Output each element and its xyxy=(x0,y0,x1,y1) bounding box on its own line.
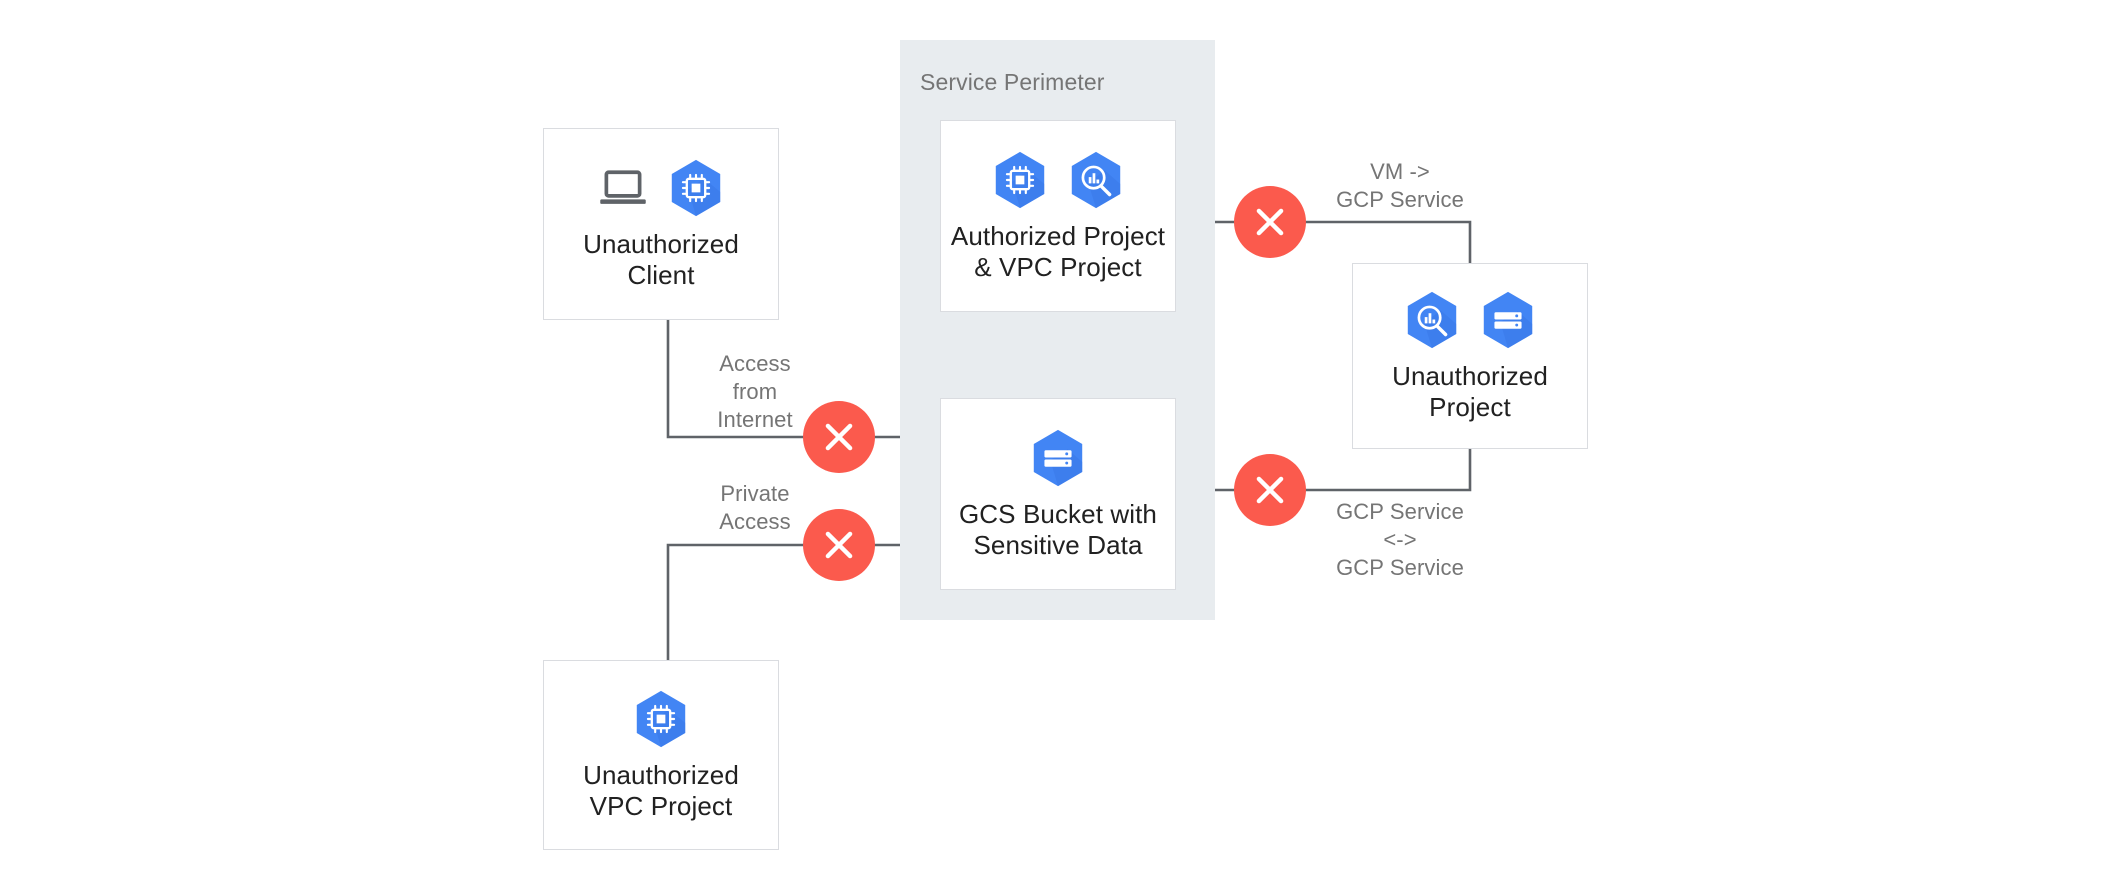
x-blocked-icon xyxy=(820,526,858,564)
node-label: Unauthorized Client xyxy=(583,229,739,290)
connector-label-gcp-service-to-gcp-service: GCP Service <-> GCP Service xyxy=(1300,498,1500,582)
connector-gcp-service-to-gcp-service xyxy=(1184,448,1470,490)
compute-engine-hexagon-icon xyxy=(630,688,692,750)
node-label: Unauthorized VPC Project xyxy=(583,760,739,821)
laptop-icon xyxy=(595,160,651,216)
bigquery-hexagon-icon xyxy=(1401,289,1463,351)
node-icon-group xyxy=(1401,289,1539,351)
connector-label-vm-to-gcp-service: VM -> GCP Service xyxy=(1300,158,1500,214)
cloud-storage-hexagon-icon xyxy=(1477,289,1539,351)
blocker-access-from-internet[interactable] xyxy=(803,401,875,473)
diagram-canvas: Service Perimeter xyxy=(0,0,2112,882)
compute-engine-hexagon-icon xyxy=(665,157,727,219)
node-icon-group xyxy=(989,149,1127,211)
node-icon-group xyxy=(1027,427,1089,489)
node-unauthorized-client[interactable]: Unauthorized Client xyxy=(543,128,779,320)
x-blocked-icon xyxy=(820,418,858,456)
node-label: Unauthorized Project xyxy=(1392,361,1548,422)
compute-engine-hexagon-icon xyxy=(989,149,1051,211)
node-unauthorized-vpc-project[interactable]: Unauthorized VPC Project xyxy=(543,660,779,850)
blocker-gcp-service-to-gcp-service[interactable] xyxy=(1234,454,1306,526)
node-gcs-bucket-sensitive-data[interactable]: GCS Bucket with Sensitive Data xyxy=(940,398,1176,590)
x-blocked-icon xyxy=(1251,471,1289,509)
x-blocked-icon xyxy=(1251,203,1289,241)
node-icon-group xyxy=(595,157,727,219)
blocker-private-access[interactable] xyxy=(803,509,875,581)
node-unauthorized-project[interactable]: Unauthorized Project xyxy=(1352,263,1588,449)
node-icon-group xyxy=(630,688,692,750)
node-authorized-project-vpc-project[interactable]: Authorized Project & VPC Project xyxy=(940,120,1176,312)
node-label: GCS Bucket with Sensitive Data xyxy=(959,499,1157,560)
bigquery-hexagon-icon xyxy=(1065,149,1127,211)
connector-vm-to-gcp-service xyxy=(1184,222,1470,263)
service-perimeter-label: Service Perimeter xyxy=(920,69,1104,96)
cloud-storage-hexagon-icon xyxy=(1027,427,1089,489)
node-label: Authorized Project & VPC Project xyxy=(951,221,1165,282)
blocker-vm-to-gcp-service[interactable] xyxy=(1234,186,1306,258)
